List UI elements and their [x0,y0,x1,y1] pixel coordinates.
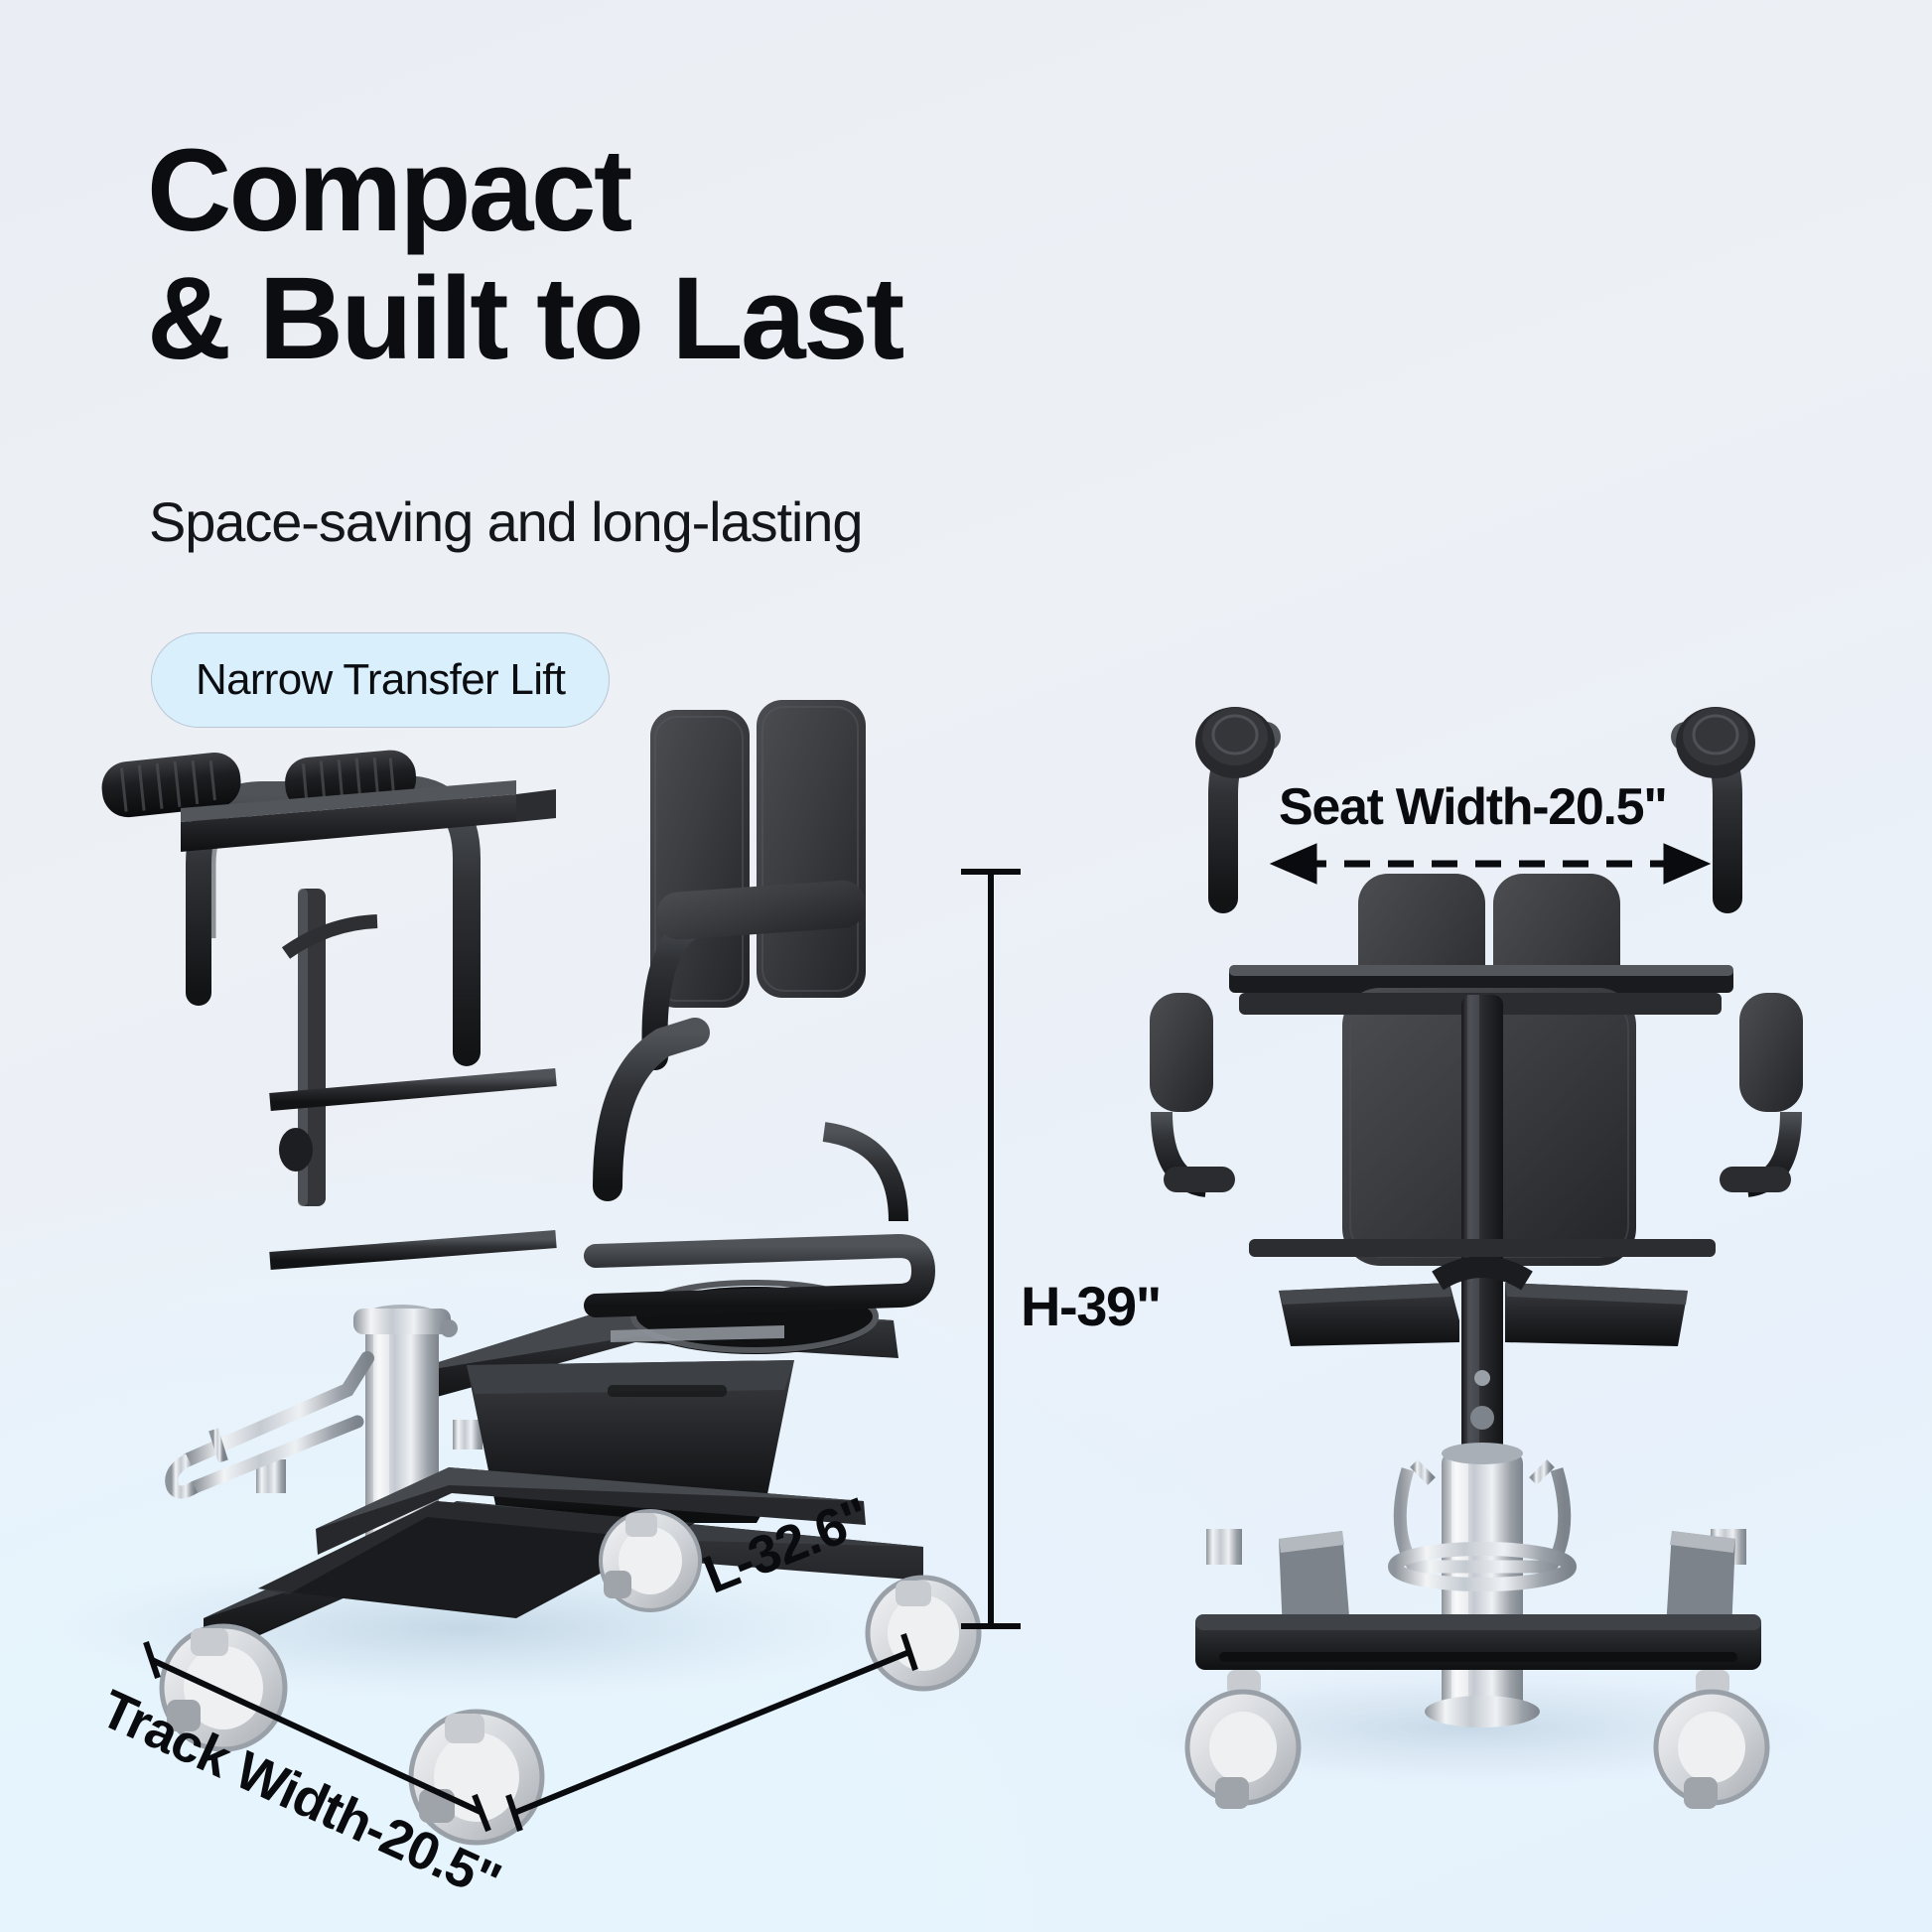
chrome-sleeve-right [1711,1529,1746,1565]
commode-bucket [467,1325,794,1523]
footplate-left [1279,1531,1350,1632]
pump-bolt [440,1319,458,1337]
center-column [1461,995,1503,1461]
adjust-knob-a [279,1128,313,1172]
hydraulic-pump-front [1395,1443,1570,1727]
seat-guard-rail [596,1132,923,1306]
seat-back-plate [1342,988,1636,1266]
front-frame-posts [1206,894,1746,1678]
hydraulic-pump [350,1305,458,1585]
height-label: H-39" [1021,1274,1161,1338]
infographic-canvas: Compact & Built to Last Space-saving and… [0,0,1932,1932]
handle-grip-rear [99,750,243,819]
caster-rear-right [601,1511,700,1610]
backrest-cushion-front [1358,874,1620,1077]
push-handle-rear [99,750,298,993]
seat-width-arrow-icon [1271,844,1710,884]
adjust-knob-b [565,1461,603,1493]
side-frame [256,839,603,1564]
upper-support-rail [1239,993,1722,1015]
column-pin [1474,1370,1490,1386]
handle-cap-left [1195,707,1275,898]
chrome-sleeve-a [256,1459,286,1493]
track-width-label: Track Width-20.5" [91,1678,509,1912]
floor-shadow-right [1112,1670,1827,1785]
commode-opening [633,1287,876,1354]
side-cross-rails [270,921,556,1261]
feature-badge: Narrow Transfer Lift [151,632,610,728]
seat-surface-front [1279,1267,1688,1346]
caster-front-right [868,1578,979,1689]
seat-support-rails [1249,1239,1716,1350]
handle-grip-front [283,748,418,812]
page-subtitle: Space-saving and long-lasting [149,489,862,554]
length-label: L-32.6" [695,1485,878,1605]
push-handle-front [283,748,467,1052]
caster-front-view-right [1656,1670,1767,1809]
column-bolt [1470,1406,1494,1430]
length-dimension-line-icon [508,1634,915,1831]
height-dimension-line-icon [961,872,1021,1626]
footplate-right [1666,1531,1735,1632]
armrest-left-front [1150,993,1235,1192]
armrest-right-front [1720,993,1803,1192]
page-title: Compact & Built to Last [147,127,902,382]
top-cross-bar [1229,965,1733,993]
caster-front-view-left [1187,1670,1299,1809]
seat-plate [397,1283,898,1408]
base-platform-front [1195,1614,1761,1670]
backrest-cushion [650,700,866,1008]
handle-cap-right [1676,707,1755,898]
feature-badge-label: Narrow Transfer Lift [196,655,565,705]
upper-back-rail [181,780,556,852]
armrest-side [608,879,867,1186]
chrome-sleeve-left [1206,1529,1242,1565]
chrome-sleeve-b [453,1420,483,1449]
seat-width-label: Seat Width-20.5" [1279,777,1667,837]
pump-foot-ring [1395,1549,1570,1585]
foot-pedal [172,1358,367,1492]
